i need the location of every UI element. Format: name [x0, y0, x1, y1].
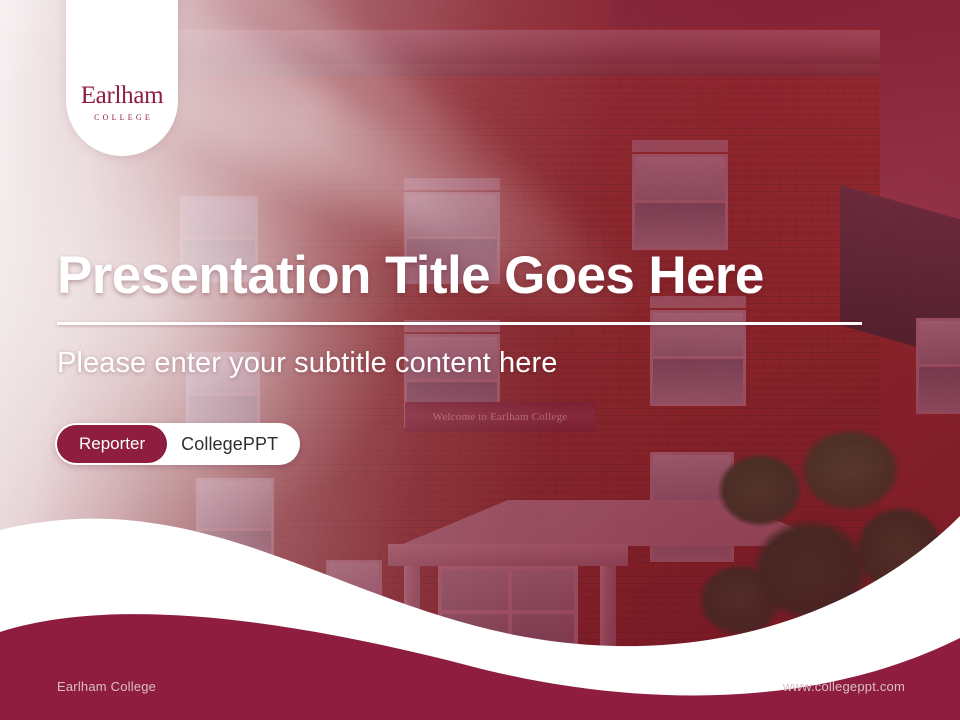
footer-right-url[interactable]: www.collegeppt.com — [783, 679, 905, 694]
slide-title[interactable]: Presentation Title Goes Here — [57, 248, 887, 304]
logo-subtitle: COLLEGE — [91, 113, 153, 122]
reporter-label-chip: Reporter — [57, 425, 167, 463]
title-divider — [57, 322, 862, 325]
headline-block: Presentation Title Goes Here Please ente… — [57, 248, 887, 380]
footer-left-text: Earlham College — [57, 679, 156, 694]
reporter-name[interactable]: CollegePPT — [181, 434, 278, 455]
reporter-label: Reporter — [79, 434, 145, 454]
presentation-slide: Welcome to Earlham College Earlham COLLE… — [0, 0, 960, 720]
slide-subtitle[interactable]: Please enter your subtitle content here — [57, 347, 887, 380]
logo-wordmark: Earlham — [81, 83, 164, 108]
reporter-badge[interactable]: Reporter CollegePPT — [55, 423, 300, 465]
earlham-college-logo: Earlham COLLEGE — [66, 0, 178, 156]
